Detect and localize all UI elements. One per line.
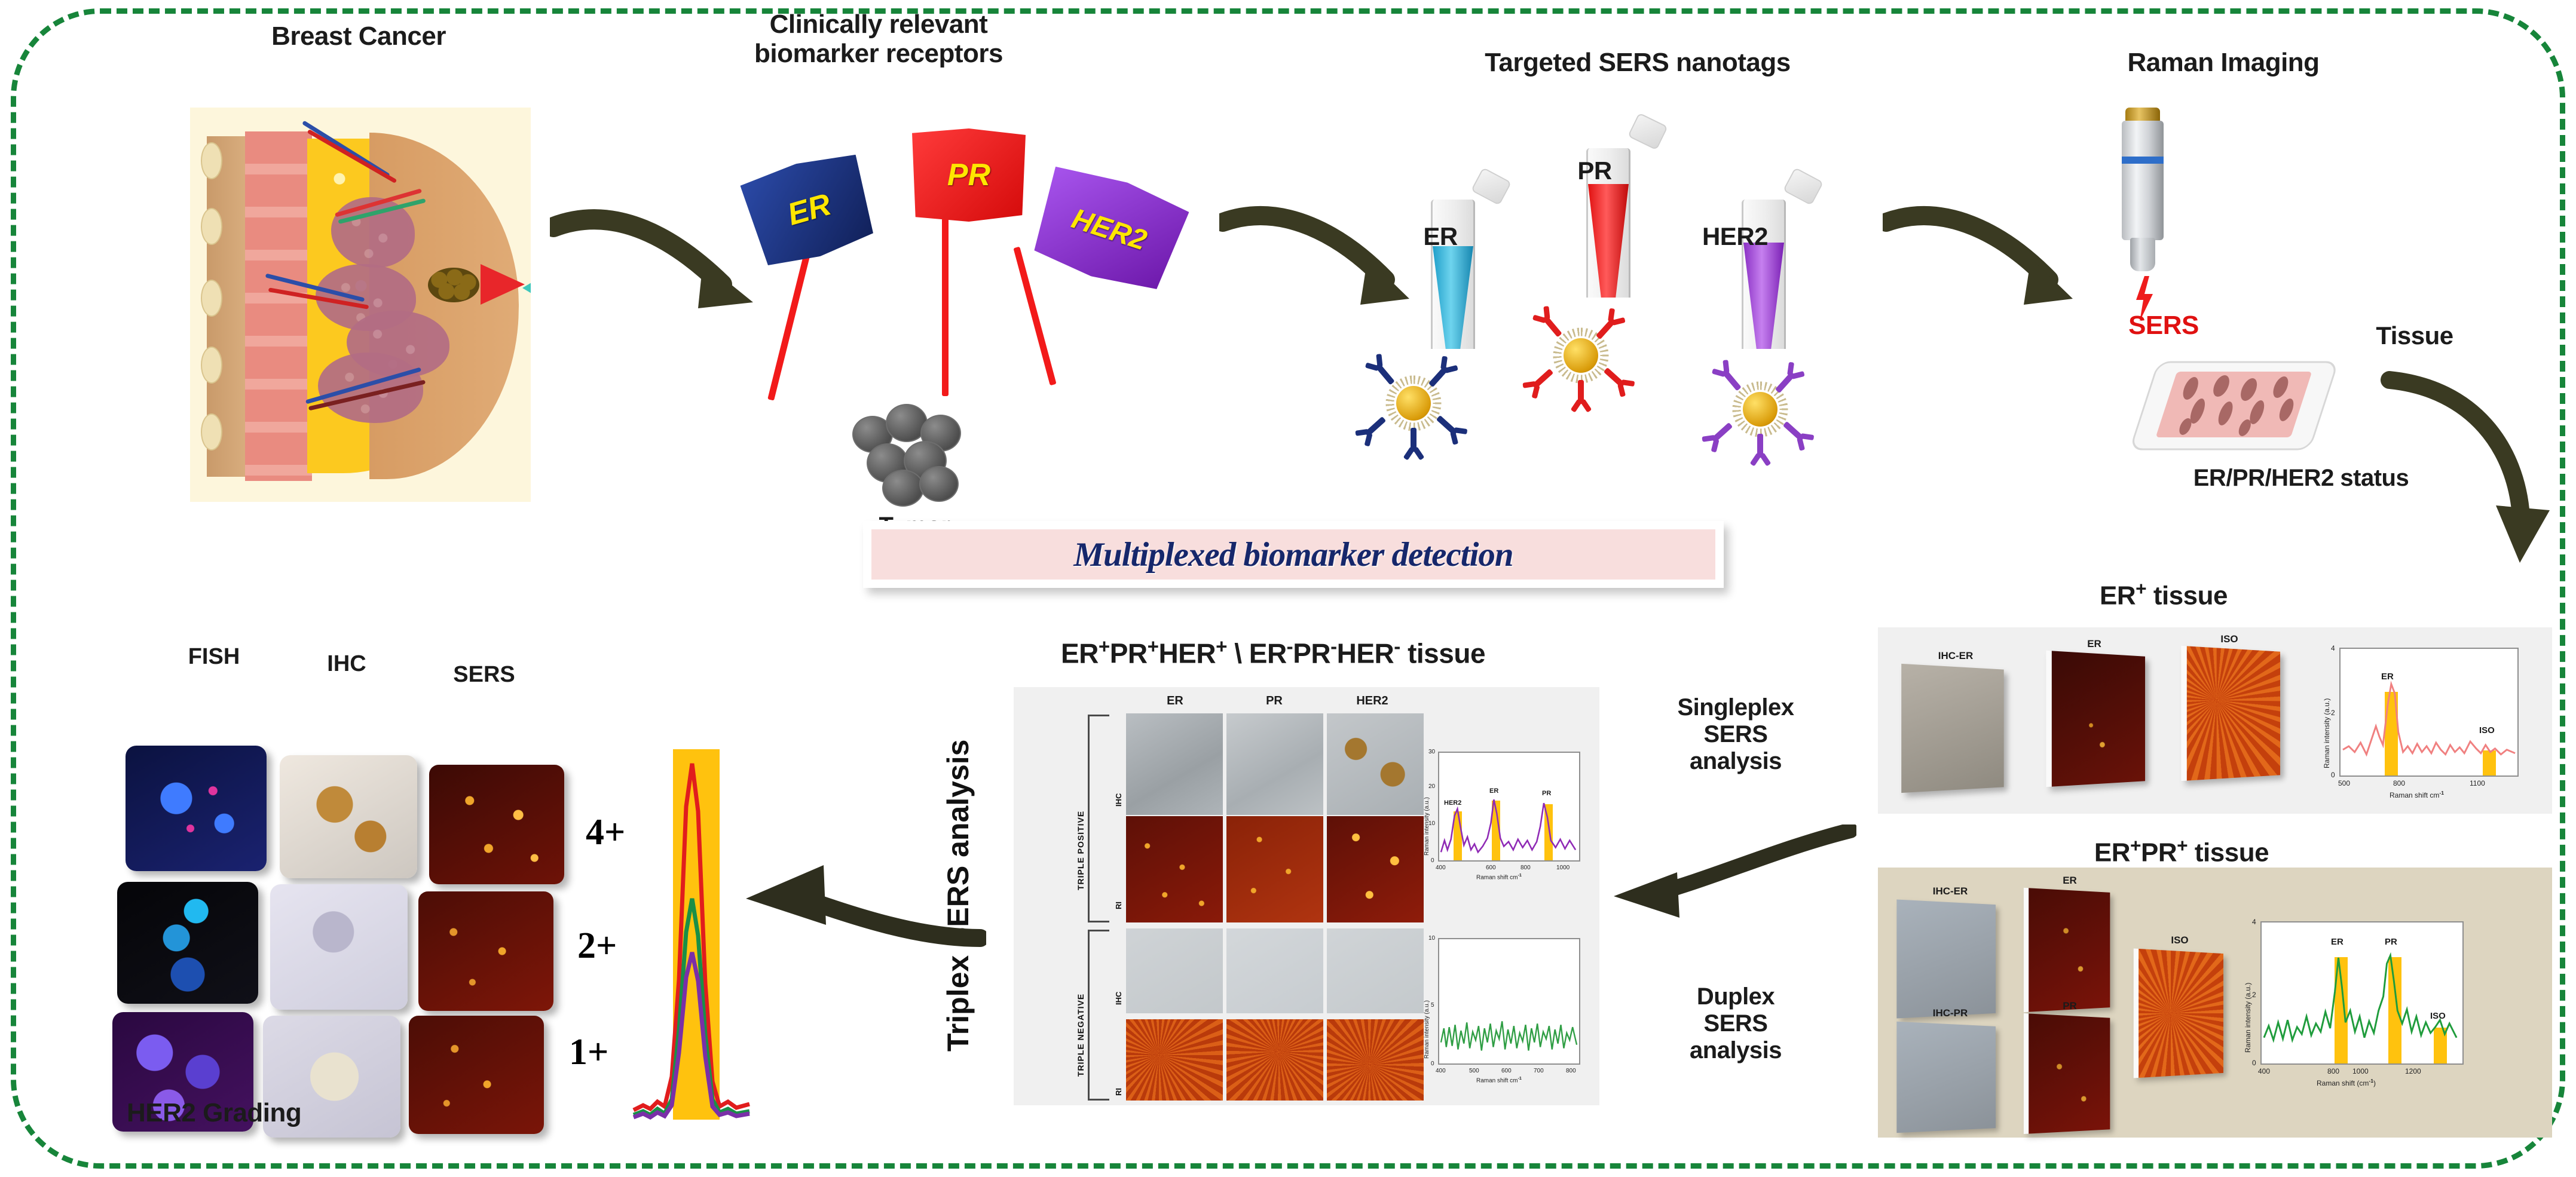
tile-ihc-pr-neg	[1226, 928, 1323, 1013]
tile-ri-pr-pos	[1226, 816, 1323, 922]
grading-overlay-plot	[632, 749, 752, 1120]
tile-ihc-pr-pos	[1226, 713, 1323, 815]
plot-peak-label-iso: ISO	[2479, 725, 2495, 735]
breast-anatomy-illustration	[190, 108, 531, 502]
duplex-title-pr-sup: +	[2177, 835, 2188, 856]
singleplex-sers-plot: ER ISO 500 800 1100 0 2 4 Raman intensit…	[2339, 648, 2519, 777]
tile-ri-er-pos	[1126, 816, 1223, 922]
step2-title-line1: Clinically relevant	[675, 10, 1082, 39]
singleplex-label-line1: Singleplex	[1622, 694, 1849, 721]
singleplex-title-tail: tissue	[2146, 581, 2228, 611]
flow-arrow-2	[1219, 197, 1417, 317]
plot-ytick-4: 4	[2331, 644, 2335, 652]
plot-ytick-duplex-2: 2	[2252, 991, 2256, 999]
tri-neg-ylabel: Raman intensity (a.u.)	[1424, 1000, 1430, 1059]
sers-laser-label: SERS	[2074, 311, 2253, 340]
duplex-title-pr: PR	[2141, 838, 2177, 868]
duplex-sers-plot: ER PR ISO 400 800 1000 1200 0 2 4 Raman …	[2260, 921, 2464, 1065]
vial-her2-label: HER2	[1672, 222, 1798, 250]
tile-pr-duplex	[2024, 1013, 2110, 1134]
plot-ytick-duplex-4: 4	[2252, 918, 2256, 926]
tri-neg-ytick-0: 0	[1431, 1060, 1434, 1067]
tile-ihc-her2-pos	[1327, 713, 1424, 815]
tri-t0: ER	[1061, 637, 1099, 669]
singleplex-label-line3: analysis	[1622, 748, 1849, 775]
tile-iso-single-label: ISO	[2176, 633, 2283, 645]
vial-er	[1422, 179, 1530, 358]
step2-title-line2: biomarker receptors	[675, 39, 1082, 68]
tissue-slide-icon	[2128, 347, 2379, 466]
tile-ri-pr-neg	[1226, 1019, 1323, 1101]
tile-ri-er-neg	[1126, 1019, 1223, 1101]
plot-xlabel-singleplex: Raman shift cm-1	[2390, 790, 2444, 799]
vial-er-fill	[1433, 246, 1473, 349]
duplex-label-line1: Duplex	[1622, 983, 1849, 1010]
flag-her2: HER2	[992, 173, 1243, 424]
tri-neg-ytick-1: 5	[1431, 1002, 1434, 1009]
tile-ihc-er-duplex-label: IHC-ER	[1893, 885, 2007, 897]
tri-neg-ytick-2: 10	[1428, 935, 1435, 942]
tri-t13: tissue	[1400, 637, 1485, 669]
tri-t8: -	[1287, 636, 1293, 658]
duplex-label: Duplex SERS analysis	[1622, 983, 1849, 1063]
tri-t9: PR	[1293, 637, 1330, 669]
grade-label-2plus: 2+	[577, 925, 617, 967]
triplex-positive-plot: HER2 ER PR 400 600 800 1000 0 10 20 30 R…	[1438, 752, 1580, 862]
duplex-label-line3: analysis	[1622, 1037, 1849, 1064]
vial-er-label: ER	[1393, 222, 1488, 250]
tri-t5: +	[1216, 636, 1227, 658]
tile-iso-duplex	[2134, 949, 2223, 1078]
tri-t11: HER	[1337, 637, 1394, 669]
row-label-ihc-pos: IHC	[1114, 793, 1123, 807]
tri-neg-xtick-4: 700	[1534, 1068, 1544, 1074]
tile-er-single-label: ER	[2040, 638, 2148, 650]
nanotag-er	[1369, 358, 1458, 448]
duplex-panel: IHC-ER ER IHC-PR PR ISO ER PR ISO 400 80…	[1878, 868, 2552, 1138]
duplex-title-er-sup: +	[2130, 835, 2141, 856]
plot-ytick-duplex-0: 0	[2252, 1059, 2256, 1067]
plot-peak-her2-pos: HER2	[1444, 799, 1461, 807]
flow-arrow-4	[2379, 370, 2558, 586]
red-pointer-arrow	[481, 264, 525, 305]
plot-xtick-1: 500	[2338, 779, 2350, 787]
plot-peak-er-pos: ER	[1489, 787, 1498, 795]
tile-fish-2plus	[117, 882, 258, 1004]
triplex-negative-plot: 400 500 600 700 800 0 5 10 Raman intensi…	[1438, 938, 1580, 1065]
tile-ihc-4plus	[280, 755, 417, 878]
duplex-title-tail: tissue	[2188, 838, 2269, 868]
plot-ytick-0: 0	[2331, 771, 2335, 779]
plot-peak-pr-pos: PR	[1542, 790, 1551, 797]
tissue-label: Tissue	[2337, 321, 2492, 350]
plot-xtick-duplex-3: 1000	[2352, 1067, 2369, 1075]
tumor-cell-cluster	[849, 394, 975, 509]
vial-her2-fill	[1743, 243, 1784, 349]
tile-ihc-2plus	[270, 884, 408, 1010]
graphical-abstract: Breast Cancer Clinically relevant biomar…	[0, 0, 2576, 1177]
tri-pos-xtick-2: 600	[1486, 865, 1496, 871]
plot-xtick-duplex-4: 1200	[2405, 1067, 2421, 1075]
grade-label-1plus: 1+	[569, 1031, 608, 1074]
grading-col-header-sers: SERS	[418, 662, 550, 688]
multiplex-banner-text: Multiplexed biomarker detection	[1073, 535, 1513, 574]
triplex-panel: ER PR HER2 TRIPLE POSITIVE IHC RI HER2 E…	[1014, 687, 1599, 1105]
plot-xlabel-duplex: Raman shift (cm-1)	[2317, 1078, 2376, 1087]
plot-peak-label-er: ER	[2381, 672, 2394, 682]
tile-ihc-er-single-label: IHC-ER	[1896, 650, 2015, 662]
singleplex-panel-title: ER+ tissue	[1996, 578, 2331, 611]
microscope-objective-icon	[2116, 108, 2170, 275]
grading-caption: HER2 Grading	[127, 1098, 461, 1127]
tri-t1: +	[1099, 636, 1110, 658]
tri-t6: \	[1227, 637, 1249, 669]
group-label-triple-positive: TRIPLE POSITIVE	[1076, 811, 1085, 890]
tile-iso-duplex-label: ISO	[2129, 934, 2231, 946]
step4-title: Raman Imaging	[2038, 48, 2409, 77]
singleplex-title-base: ER	[2100, 581, 2136, 611]
tri-neg-xlabel: Raman shift cm-1	[1476, 1075, 1522, 1084]
grade-label-4plus: 4+	[586, 811, 625, 854]
tile-ihc-er-neg	[1126, 928, 1223, 1013]
triplex-panel-title: ER+PR+HER+ \ ER-PR-HER- tissue	[932, 636, 1614, 669]
step2-title: Clinically relevant biomarker receptors	[675, 10, 1082, 69]
tile-iso-single	[2181, 646, 2280, 781]
tri-neg-xtick-2: 500	[1469, 1068, 1479, 1074]
plot-xtick-3: 1100	[2470, 779, 2485, 787]
teal-pointer-arrow	[522, 270, 531, 306]
tri-neg-xtick-3: 600	[1501, 1068, 1512, 1074]
tile-sers-4plus	[429, 765, 564, 884]
tile-ri-her2-pos	[1327, 816, 1424, 922]
tile-ihc-er-duplex	[1896, 899, 1996, 1018]
bracket-triple-negative	[1088, 930, 1109, 1101]
singleplex-label: Singleplex SERS analysis	[1622, 694, 1849, 774]
tri-t10: -	[1330, 636, 1337, 658]
tri-t3: +	[1148, 636, 1159, 658]
tile-er-duplex-label: ER	[2019, 875, 2121, 887]
plot-ytick-2: 2	[2331, 709, 2335, 717]
tri-pos-xtick-1: 400	[1436, 865, 1446, 871]
plot-xtick-duplex-2: 800	[2327, 1067, 2339, 1075]
flag-er-cloth: ER	[739, 148, 880, 272]
tile-pr-duplex-label: PR	[2019, 1000, 2121, 1012]
row-label-ri-pos: RI	[1114, 902, 1123, 909]
tri-t12: -	[1394, 636, 1400, 658]
tri-pos-ylabel: Raman intensity (a.u.)	[1424, 797, 1430, 856]
plot-peak-label-pr-duplex: PR	[2385, 937, 2397, 947]
tri-neg-xtick-1: 400	[1436, 1068, 1446, 1074]
vial-pr-label: PR	[1547, 157, 1642, 185]
plot-peak-label-er-duplex: ER	[2331, 937, 2344, 947]
row-label-ihc-neg: IHC	[1114, 992, 1123, 1005]
tri-t2: PR	[1110, 637, 1148, 669]
group-label-triple-negative: TRIPLE NEGATIVE	[1076, 994, 1085, 1077]
flow-arrow-3	[1883, 197, 2080, 317]
plot-peak-label-iso-duplex: ISO	[2430, 1011, 2446, 1021]
duplex-label-line2: SERS	[1622, 1010, 1849, 1037]
singleplex-label-line2: SERS	[1622, 721, 1849, 748]
tri-pos-ytick-2: 20	[1428, 783, 1435, 790]
multiplex-banner: Multiplexed biomarker detection	[863, 521, 1724, 588]
flow-arrow-grading	[735, 848, 986, 968]
tile-er-duplex	[2024, 888, 2110, 1012]
tile-ri-her2-neg	[1327, 1019, 1424, 1101]
tile-ihc-pr-duplex	[1896, 1022, 1996, 1133]
tri-pos-xlabel: Raman shift cm-1	[1476, 872, 1522, 881]
nanotag-pr	[1536, 311, 1626, 400]
tile-er-single	[2046, 651, 2145, 787]
tile-sers-2plus	[418, 891, 553, 1011]
tile-fish-4plus	[126, 746, 267, 871]
step1-title: Breast Cancer	[185, 22, 532, 51]
triplex-col-header-her2: HER2	[1324, 694, 1420, 708]
grading-col-header-ihc: IHC	[287, 651, 406, 677]
vial-her2	[1733, 179, 1841, 358]
flow-arrow-singleplex	[1599, 824, 1856, 926]
step3-title: Targeted SERS nanotags	[1369, 48, 1907, 77]
bracket-triple-positive	[1088, 715, 1109, 922]
triplex-col-header-pr: PR	[1226, 694, 1322, 708]
plot-ylabel-singleplex: Raman intensity (a.u.)	[2323, 698, 2331, 768]
tri-pos-xtick-4: 1000	[1556, 865, 1570, 871]
tile-ihc-her2-neg	[1327, 928, 1424, 1013]
tri-neg-xtick-5: 800	[1566, 1068, 1576, 1074]
tri-t4: HER	[1158, 637, 1216, 669]
duplex-panel-title: ER+PR+ tissue	[1996, 835, 2367, 868]
tile-ihc-pr-duplex-label: IHC-PR	[1893, 1007, 2007, 1019]
tile-ihc-er-pos	[1126, 713, 1223, 815]
tri-t7: ER	[1249, 637, 1287, 669]
vial-pr-fill	[1588, 184, 1629, 298]
plot-ylabel-duplex: Raman intensity (a.u.)	[2244, 983, 2252, 1053]
triplex-col-header-er: ER	[1127, 694, 1223, 708]
flag-her2-cloth: HER2	[1027, 160, 1192, 299]
tri-pos-ytick-3: 30	[1428, 749, 1435, 755]
singleplex-panel: IHC-ER ER ISO ER ISO 500 800 1100 0 2 4 …	[1878, 627, 2552, 814]
duplex-title-er: ER	[2094, 838, 2130, 868]
grading-col-header-fish: FISH	[148, 644, 280, 670]
row-label-ri-neg: RI	[1114, 1088, 1123, 1096]
tri-pos-xtick-3: 800	[1520, 865, 1531, 871]
tile-ihc-er-single	[1901, 664, 2003, 793]
nanotag-her2	[1715, 364, 1805, 454]
plot-xtick-2: 800	[2393, 779, 2405, 787]
singleplex-title-sup: +	[2136, 578, 2146, 599]
tumor-lesion-marker	[428, 268, 479, 302]
flow-arrow-1	[550, 197, 765, 323]
tri-pos-ytick-0: 0	[1431, 857, 1434, 864]
plot-xtick-duplex-1: 400	[2258, 1067, 2270, 1075]
